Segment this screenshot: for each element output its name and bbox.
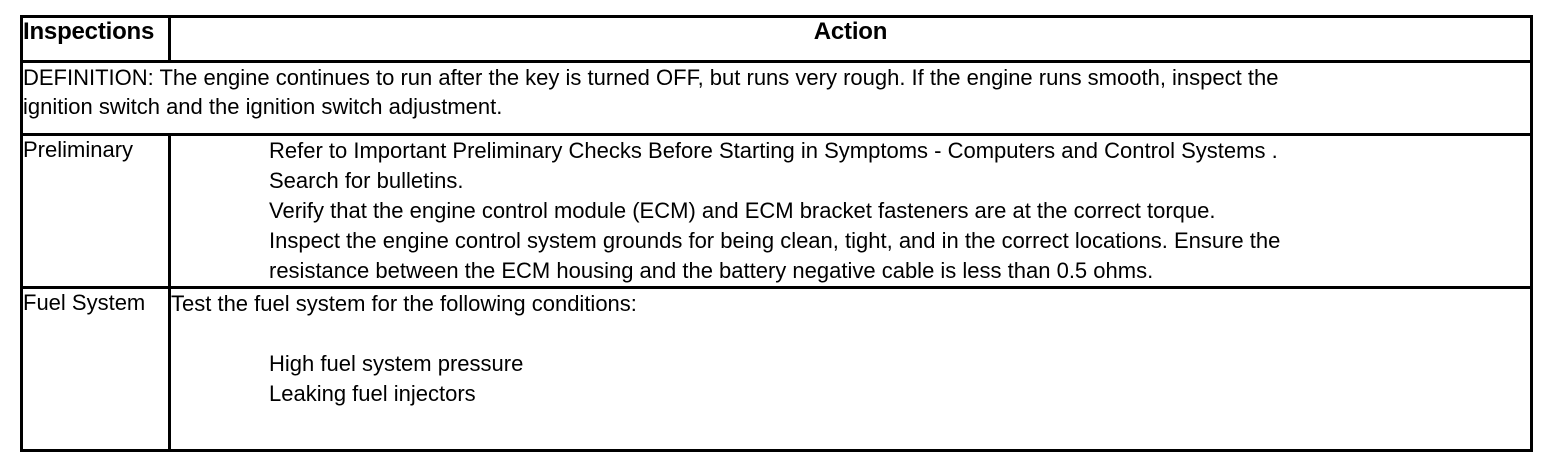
fuel-system-gap — [171, 319, 1530, 349]
fuel-system-condition-1: High fuel system pressure — [269, 349, 1530, 379]
row-label-preliminary: Preliminary — [22, 135, 170, 288]
definition-cell: DEFINITION: The engine continues to run … — [22, 62, 1532, 135]
fuel-system-condition-list: High fuel system pressure Leaking fuel i… — [171, 349, 1530, 409]
fuel-system-intro: Test the fuel system for the following c… — [171, 289, 1530, 319]
definition-row: DEFINITION: The engine continues to run … — [22, 62, 1532, 135]
definition-line-2: ignition switch and the ignition switch … — [23, 92, 1530, 121]
preliminary-action-line-5: resistance between the ECM housing and t… — [269, 256, 1530, 286]
preliminary-action-list: Refer to Important Preliminary Checks Be… — [171, 136, 1530, 286]
table-row-preliminary: Preliminary Refer to Important Prelimina… — [22, 135, 1532, 288]
preliminary-action-line-4: Inspect the engine control system ground… — [269, 226, 1530, 256]
definition-line-1: DEFINITION: The engine continues to run … — [23, 63, 1530, 92]
preliminary-action-line-2: Search for bulletins. — [269, 166, 1530, 196]
inspections-action-table: Inspections Action DEFINITION: The engin… — [20, 15, 1533, 452]
row-action-fuel-system: Test the fuel system for the following c… — [170, 288, 1532, 451]
preliminary-action-line-3: Verify that the engine control module (E… — [269, 196, 1530, 226]
fuel-system-condition-2: Leaking fuel injectors — [269, 379, 1530, 409]
column-header-action: Action — [170, 17, 1532, 62]
table-header-row: Inspections Action — [22, 17, 1532, 62]
table-row-fuel-system: Fuel System Test the fuel system for the… — [22, 288, 1532, 451]
row-label-fuel-system: Fuel System — [22, 288, 170, 451]
column-header-inspections: Inspections — [22, 17, 170, 62]
preliminary-action-line-1: Refer to Important Preliminary Checks Be… — [269, 136, 1530, 166]
document-page: Inspections Action DEFINITION: The engin… — [0, 0, 1568, 464]
row-action-preliminary: Refer to Important Preliminary Checks Be… — [170, 135, 1532, 288]
